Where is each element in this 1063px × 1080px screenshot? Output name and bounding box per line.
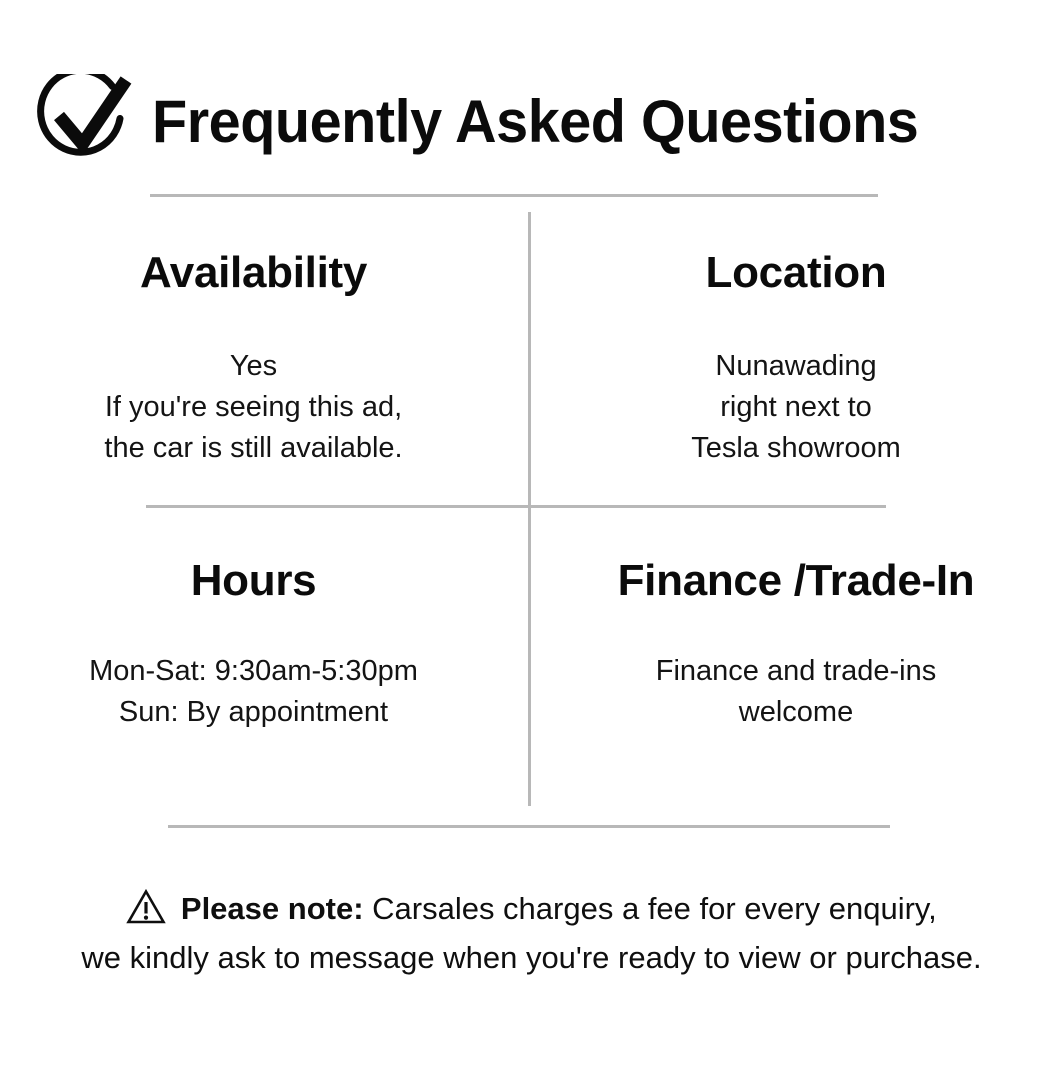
footer-note-line-2: we kindly ask to message when you're rea… xyxy=(0,933,1063,982)
footer-note-rest: Carsales charges a fee for every enquiry… xyxy=(364,891,937,926)
footer-note-line-1: Please note: Carsales charges a fee for … xyxy=(0,884,1063,933)
faq-heading-location: Location xyxy=(706,250,887,296)
page-title: Frequently Asked Questions xyxy=(152,92,918,152)
footer-note: Please note: Carsales charges a fee for … xyxy=(0,884,1063,982)
faq-cell-finance-trade-in: Finance /Trade-In Finance and trade-ins … xyxy=(529,506,1063,812)
divider-bottom xyxy=(168,825,890,828)
check-circle-icon xyxy=(34,74,138,170)
faq-page: Frequently Asked Questions Availability … xyxy=(0,0,1063,1080)
faq-heading-finance-trade-in: Finance /Trade-In xyxy=(618,558,975,604)
faq-heading-hours: Hours xyxy=(191,558,317,604)
warning-triangle-icon xyxy=(126,891,181,926)
footer-note-label: Please note: xyxy=(181,891,364,926)
faq-heading-availability: Availability xyxy=(140,250,367,296)
faq-cell-location: Location Nunawading right next to Tesla … xyxy=(529,212,1063,506)
divider-top xyxy=(150,194,878,197)
faq-body-availability: Yes If you're seeing this ad, the car is… xyxy=(104,346,402,469)
faq-body-location: Nunawading right next to Tesla showroom xyxy=(691,346,901,469)
faq-body-hours: Mon-Sat: 9:30am-5:30pm Sun: By appointme… xyxy=(89,651,418,733)
faq-body-finance-trade-in: Finance and trade-ins welcome xyxy=(656,651,937,733)
page-header: Frequently Asked Questions xyxy=(34,52,950,192)
faq-grid: Availability Yes If you're seeing this a… xyxy=(0,212,1063,812)
faq-cell-hours: Hours Mon-Sat: 9:30am-5:30pm Sun: By app… xyxy=(0,506,529,812)
faq-cell-availability: Availability Yes If you're seeing this a… xyxy=(0,212,529,506)
